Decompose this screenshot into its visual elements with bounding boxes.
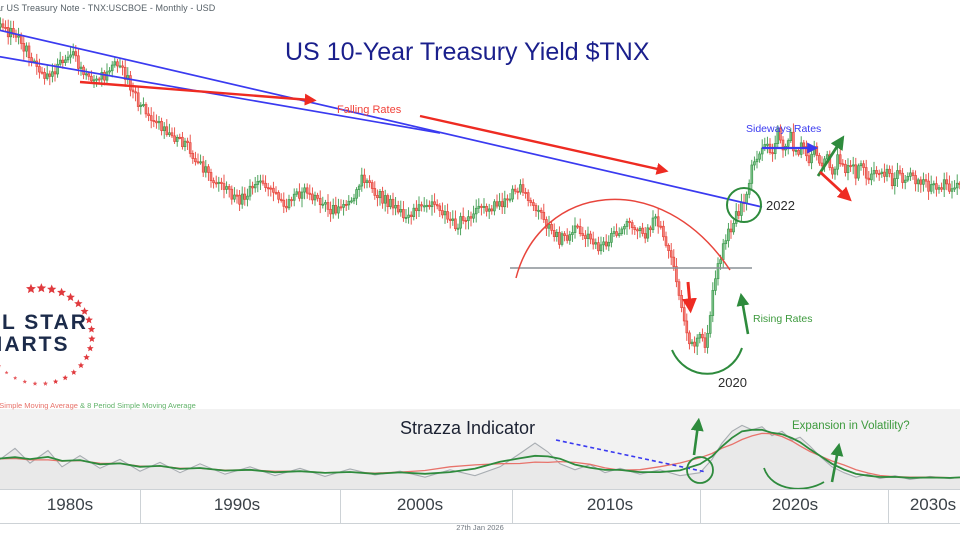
candle-body (730, 229, 732, 232)
axis-label-2000s: 2000s (375, 495, 465, 515)
candle-body (244, 194, 246, 199)
candle-body (441, 211, 443, 215)
candle-body (189, 143, 191, 154)
candle-body (896, 171, 898, 179)
candle-body (449, 219, 451, 220)
candle-body (90, 76, 92, 80)
candle-body (343, 204, 345, 207)
candle-body (746, 194, 748, 203)
candle-body (595, 243, 597, 244)
candle-body (535, 206, 537, 211)
candle-body (376, 195, 378, 197)
candle-body (878, 174, 880, 175)
candle-body (626, 221, 628, 226)
annotation-expansion-volatility: Expansion in Volatility? (792, 420, 910, 432)
indicator-legend-ma8: & 8 Period Simple Moving Average (80, 401, 196, 410)
candle-body (954, 188, 956, 189)
candle-body (907, 176, 909, 180)
axis-label-2020s: 2020s (750, 495, 840, 515)
candle-body (158, 121, 160, 122)
axis-label-2010s: 2010s (565, 495, 655, 515)
candle-body (629, 221, 631, 222)
candle-body (668, 245, 670, 250)
candle-body (397, 205, 399, 212)
candle-body (665, 237, 667, 246)
candle-body (132, 90, 134, 92)
candle-body (348, 201, 350, 205)
axis-label-2030s: 2030s (888, 495, 960, 515)
x-axis: 1980s1990s2000s2010s2020s2030s (0, 489, 960, 524)
candle-body (837, 155, 839, 169)
candle-body (530, 201, 532, 203)
candle-body (439, 206, 441, 211)
candle-body (707, 333, 709, 347)
candle-body (613, 232, 615, 234)
candle-body (571, 233, 573, 235)
candle-body (322, 204, 324, 205)
candle-body (205, 167, 207, 172)
candle-body (54, 72, 56, 74)
candle-body (597, 243, 599, 251)
candle-body (512, 189, 514, 199)
logo-star (43, 381, 48, 386)
candle-body (636, 230, 638, 231)
candle-body (538, 210, 540, 211)
candle-body (813, 147, 815, 155)
logo-star (33, 381, 38, 385)
candle-body (930, 185, 932, 192)
candle-body (194, 159, 196, 162)
candle-body (948, 184, 950, 191)
candle-body (49, 74, 51, 77)
candle-body (192, 153, 194, 158)
candle-body (548, 224, 550, 228)
annotation-year-2020: 2020 (718, 375, 747, 390)
logo-line-1: ALL STAR (0, 311, 88, 334)
candle-body (803, 143, 805, 147)
axis-label-1980s: 1980s (25, 495, 115, 515)
candle-body (579, 227, 581, 234)
candle-body (181, 137, 183, 146)
logo-star (26, 284, 36, 293)
candle-body (103, 72, 105, 80)
candle-body (478, 206, 480, 208)
candle-body (551, 224, 553, 230)
candle-body (306, 188, 308, 193)
candle-body (444, 212, 446, 215)
candle-body (756, 159, 758, 162)
candle-body (363, 175, 365, 183)
candle-body (265, 183, 267, 187)
candle-body (418, 205, 420, 211)
candle-body (298, 192, 300, 198)
future-down-arrow (820, 172, 846, 196)
candle-body (41, 72, 43, 73)
candle-body (5, 27, 7, 28)
candle-body (46, 74, 48, 79)
candle-body (171, 133, 173, 136)
candle-body (38, 66, 40, 72)
candle-body (733, 223, 735, 231)
candle-body (426, 205, 428, 206)
candle-body (0, 24, 1, 27)
candle-body (184, 141, 186, 147)
candle-body (207, 167, 209, 173)
candle-body (699, 334, 701, 338)
candle-body (642, 228, 644, 233)
annotation-rising-rates: Rising Rates (753, 313, 813, 325)
candle-body (387, 196, 389, 207)
candle-body (956, 183, 958, 188)
candle-body (514, 189, 516, 191)
candle-body (600, 245, 602, 251)
candle-body (228, 187, 230, 190)
candle-body (712, 290, 714, 315)
candle-body (618, 234, 620, 236)
candle-body (317, 195, 319, 198)
candle-body (340, 207, 342, 208)
candle-body (119, 66, 121, 67)
indicator-legend-ma16: & 16 Period Simple Moving Average (0, 401, 78, 410)
candle-body (85, 74, 87, 75)
candle-body (218, 182, 220, 183)
candle-body (886, 169, 888, 176)
candle-body (735, 212, 737, 224)
candle-body (452, 219, 454, 221)
candle-body (213, 181, 215, 183)
candle-body (31, 58, 33, 62)
candle-body (928, 181, 930, 191)
candle-body (480, 206, 482, 207)
candle-body (839, 155, 841, 164)
candle-body (941, 188, 943, 190)
candle-body (70, 55, 72, 57)
candle-body (566, 236, 568, 241)
candle-body (51, 72, 53, 77)
candle-body (831, 168, 833, 175)
candle-body (493, 202, 495, 211)
candle-body (850, 165, 852, 166)
candle-body (616, 232, 618, 236)
candle-body (662, 226, 664, 236)
candle-body (465, 220, 467, 221)
candle-body (116, 62, 118, 66)
candle-body (257, 181, 259, 184)
candle-body (686, 321, 688, 333)
candle-body (280, 199, 282, 200)
candle-body (301, 192, 303, 198)
candle-body (553, 230, 555, 236)
candle-body (564, 234, 566, 236)
indicator-dashed-trendline (556, 440, 706, 472)
candle-body (140, 105, 142, 106)
candle-body (951, 189, 953, 192)
candle-body (25, 46, 27, 51)
candle-body (558, 232, 560, 244)
candle-body (798, 150, 800, 154)
date-stamp: 27th Jan 2026 (0, 523, 960, 532)
candle-body (603, 242, 605, 245)
candle-body (852, 165, 854, 166)
candle-body (262, 181, 264, 183)
candle-body (644, 234, 646, 239)
candle-body (239, 195, 241, 204)
candle-body (353, 198, 355, 201)
annotation-strazza-indicator: Strazza Indicator (400, 418, 535, 439)
candle-body (870, 174, 872, 180)
candle-body (148, 114, 150, 116)
candle-body (842, 164, 844, 165)
candle-body (881, 172, 883, 174)
candle-body (899, 171, 901, 174)
candle-body (592, 239, 594, 244)
indicator-legend: & 16 Period Simple Moving Average & 8 Pe… (0, 401, 196, 410)
candle-body (72, 52, 74, 55)
candle-body (610, 233, 612, 242)
candle-body (543, 212, 545, 219)
candle-body (330, 209, 332, 214)
logo-star (5, 371, 9, 375)
candle-body (909, 173, 911, 176)
candle-body (431, 202, 433, 207)
candle-body (701, 334, 703, 338)
candle-body (96, 79, 98, 80)
logo-line-2: CHARTS (0, 333, 70, 356)
axis-tick (700, 490, 701, 523)
candle-body (135, 92, 137, 93)
candle-body (946, 180, 948, 184)
candle-body (176, 137, 178, 141)
chart-canvas (0, 0, 960, 540)
candle-body (704, 338, 706, 348)
candle-body (337, 207, 339, 213)
candle-body (725, 241, 727, 244)
candle-body (727, 229, 729, 241)
candle-body (816, 147, 818, 156)
candle-body (457, 228, 459, 229)
candle-body (532, 202, 534, 205)
candle-body (527, 193, 529, 201)
candle-body (787, 141, 789, 147)
candle-body (501, 202, 503, 207)
candle-body (291, 200, 293, 201)
rounding-top-arc (516, 199, 730, 278)
candle-body (675, 267, 677, 282)
candle-body (434, 202, 436, 205)
candle-body (720, 260, 722, 264)
candle-body (569, 235, 571, 241)
candle-body (883, 172, 885, 176)
candle-body (145, 104, 147, 113)
candle-body (639, 228, 641, 230)
candle-body (392, 199, 394, 208)
candle-body (278, 193, 280, 200)
candle-body (220, 182, 222, 183)
candle-body (670, 251, 672, 258)
candle-body (673, 257, 675, 266)
candle-body (400, 209, 402, 212)
candle-body (915, 176, 917, 184)
candle-body (759, 154, 761, 159)
candle-body (163, 127, 165, 131)
candle-body (873, 170, 875, 174)
candle-body (210, 172, 212, 180)
candle-body (137, 93, 139, 107)
candle-body (660, 226, 662, 227)
candle-body (350, 201, 352, 202)
candle-body (356, 190, 358, 199)
candle-body (358, 186, 360, 190)
candle-body (200, 162, 202, 163)
candle-body (23, 43, 25, 51)
candle-body (483, 206, 485, 207)
candle-body (275, 192, 277, 193)
candle-body (174, 136, 176, 142)
candle-body (283, 200, 285, 206)
all-star-charts-logo: ALL STAR CHARTS (0, 300, 120, 370)
candle-body (267, 188, 269, 189)
candle-body (402, 209, 404, 217)
candle-body (540, 210, 542, 212)
candle-body (506, 199, 508, 200)
candle-body (114, 62, 116, 65)
candle-body (605, 242, 607, 246)
candle-body (460, 217, 462, 229)
candle-body (847, 165, 849, 172)
candle-body (405, 217, 407, 218)
candle-body (652, 218, 654, 230)
rounding-bottom-arc (672, 348, 742, 374)
candle-body (688, 333, 690, 344)
candle-body (309, 193, 311, 194)
candle-body (454, 219, 456, 229)
candle-body (467, 217, 469, 221)
candle-body (345, 204, 347, 205)
candle-body (517, 191, 519, 192)
candle-body (860, 164, 862, 166)
candle-body (161, 121, 163, 130)
candle-body (470, 217, 472, 219)
chart-screenshot: 10-Year US Treasury Note - TNX:USCBOE - … (0, 0, 960, 540)
candle-body (766, 144, 768, 145)
candle-body (408, 215, 410, 217)
candle-body (254, 184, 256, 187)
candle-body (795, 150, 797, 151)
candle-body (868, 178, 870, 180)
annotation-year-2022: 2022 (766, 198, 795, 213)
axis-tick (140, 490, 141, 523)
candle-body (714, 279, 716, 291)
candle-body (335, 205, 337, 213)
logo-star (62, 375, 68, 380)
candle-body (491, 209, 493, 211)
candle-body (369, 181, 371, 183)
candle-body (410, 215, 412, 216)
rising-rates-arrow (742, 300, 748, 334)
candle-body (902, 173, 904, 182)
candle-body (821, 163, 823, 166)
candle-body (324, 203, 326, 205)
candle-body (488, 209, 490, 211)
logo-star (71, 369, 77, 375)
candle-body (423, 206, 425, 207)
candle-body (889, 169, 891, 173)
candle-body (844, 164, 846, 172)
candle-body (20, 36, 22, 43)
candle-body (111, 65, 113, 71)
candle-body (753, 162, 755, 165)
candle-body (67, 57, 69, 60)
candle-body (447, 212, 449, 220)
candle-body (75, 52, 77, 56)
candle-body (922, 180, 924, 185)
candle-body (582, 234, 584, 236)
candle-body (772, 153, 774, 154)
candle-body (150, 116, 152, 121)
candle-body (925, 180, 927, 182)
candle-body (270, 188, 272, 189)
decline-arrow (688, 282, 690, 305)
logo-wordmark: ALL STAR CHARTS (0, 312, 88, 356)
candle-body (522, 185, 524, 193)
candle-body (18, 36, 20, 37)
candle-body (168, 133, 170, 135)
candle-body (384, 196, 386, 204)
candle-body (88, 74, 90, 76)
candle-body (509, 199, 511, 200)
candle-body (413, 208, 415, 216)
candle-body (153, 120, 155, 121)
candle-body (696, 338, 698, 346)
candle-body (935, 184, 937, 190)
annotation-sideways-rates: Sideways Rates (746, 123, 821, 135)
candle-body (891, 173, 893, 185)
candle-body (587, 234, 589, 239)
candle-body (122, 66, 124, 67)
candle-body (371, 183, 373, 189)
candle-body (865, 168, 867, 179)
candle-body (519, 185, 521, 192)
candle-body (920, 180, 922, 184)
candle-body (179, 137, 181, 138)
candle-body (155, 121, 157, 123)
candle-body (933, 184, 935, 185)
candle-body (938, 188, 940, 190)
candle-body (584, 236, 586, 239)
candle-body (241, 194, 243, 204)
candle-body (894, 179, 896, 186)
candle-body (293, 194, 295, 200)
logo-star (53, 379, 58, 384)
candle-body (226, 187, 228, 190)
candle-body (631, 223, 633, 228)
candle-body (231, 189, 233, 199)
candle-body (657, 217, 659, 226)
candle-body (361, 175, 363, 186)
candle-body (428, 205, 430, 206)
candle-body (109, 71, 111, 72)
candle-body (561, 234, 563, 245)
candle-body (249, 186, 251, 196)
candle-body (694, 342, 696, 346)
candle-body (709, 316, 711, 334)
candle-body (621, 229, 623, 234)
indicator-up-arrow-1 (694, 425, 698, 455)
candle-body (499, 202, 501, 207)
candle-body (311, 194, 313, 200)
falling-rates-arrow-2 (420, 116, 662, 170)
axis-tick (340, 490, 341, 523)
